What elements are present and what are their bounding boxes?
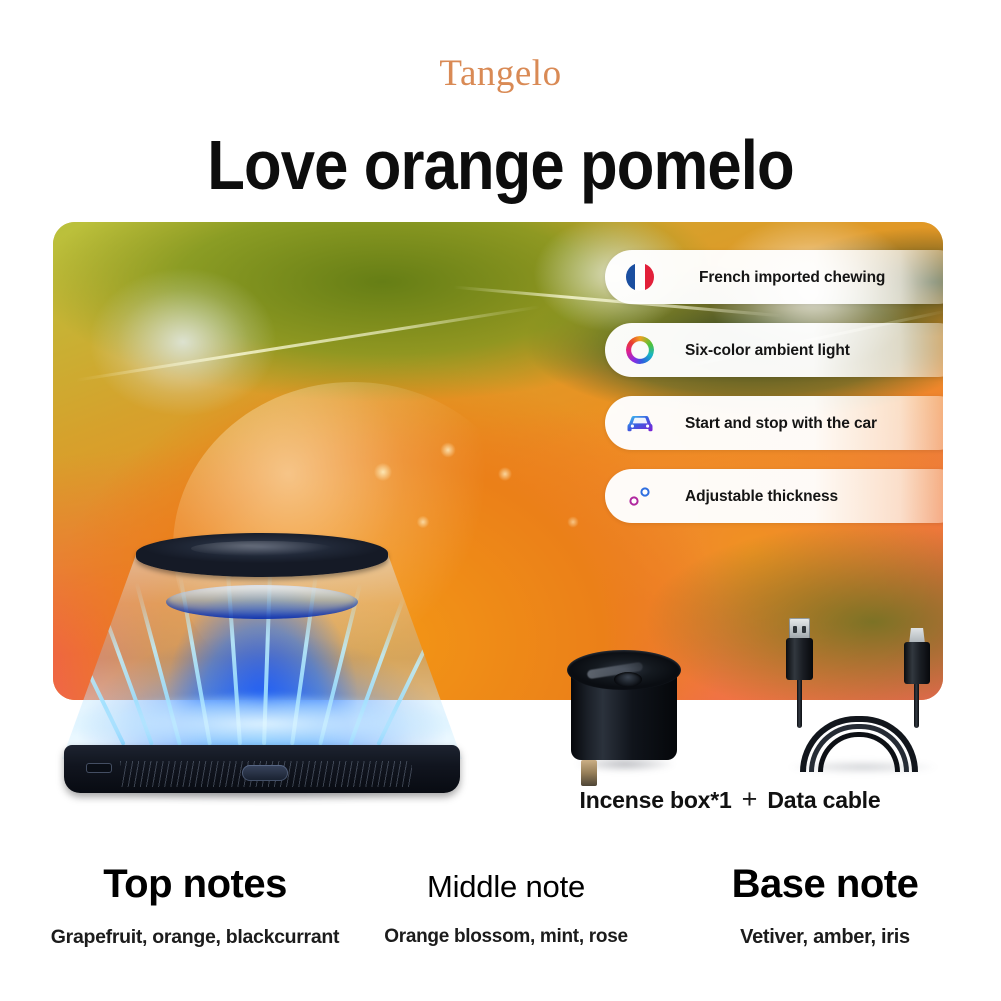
note-title: Base note <box>660 862 990 907</box>
diffuser-top-cap[interactable] <box>136 533 388 577</box>
rainbow-ring-icon <box>623 333 657 367</box>
note-title: Middle note <box>362 869 650 905</box>
accessories-caption: Incense box*1 + Data cable <box>520 786 940 814</box>
feature-label: Start and stop with the car <box>685 415 877 432</box>
data-cable-label: Data cable <box>767 787 880 814</box>
aroma-diffuser-product <box>62 533 462 805</box>
feature-pill-start-stop-car[interactable]: Start and stop with the car <box>605 396 943 450</box>
note-column-middle: Middle note Orange blossom, mint, rose <box>362 862 650 948</box>
diffuser-base <box>64 745 460 793</box>
incense-center-hole <box>614 672 642 687</box>
feature-pill-adjustable-thickness[interactable]: Adjustable thickness <box>605 469 943 523</box>
note-description: Orange blossom, mint, rose <box>362 926 650 948</box>
diffuser-transparent-dome <box>62 549 462 759</box>
feature-label: Adjustable thickness <box>685 488 838 505</box>
cable-cord <box>914 682 919 728</box>
brand-name: Tangelo <box>0 52 1001 96</box>
diffuser-charging-port <box>86 763 112 773</box>
feature-label: Six-color ambient light <box>685 342 850 359</box>
incense-top-face <box>567 650 681 690</box>
note-column-top: Top notes Grapefruit, orange, blackcurra… <box>20 862 370 949</box>
usb-data-cable <box>778 618 953 770</box>
product-poster: Tangelo Love orange pomelo French import… <box>0 0 1001 1001</box>
note-description: Grapefruit, orange, blackcurrant <box>20 926 370 949</box>
feature-list: French imported chewing Six-color ambien… <box>605 250 943 542</box>
feature-pill-ambient-light[interactable]: Six-color ambient light <box>605 323 943 377</box>
feature-pill-french-imported[interactable]: French imported chewing <box>605 250 943 304</box>
fragrance-notes: Top notes Grapefruit, orange, blackcurra… <box>0 862 1001 982</box>
cable-cord <box>797 678 802 728</box>
diffuser-inner-ring <box>166 585 358 619</box>
note-column-base: Base note Vetiver, amber, iris <box>660 862 990 949</box>
note-title: Top notes <box>20 862 370 907</box>
sliders-icon <box>623 479 657 513</box>
usb-a-connector-icon <box>786 618 813 680</box>
incense-box-label: Incense box*1 <box>580 787 732 814</box>
note-description: Vetiver, amber, iris <box>660 926 990 949</box>
incense-cartridge <box>563 640 685 770</box>
incense-foil-tab <box>581 760 597 786</box>
plus-separator: + <box>742 786 758 813</box>
page-title: Love orange pomelo <box>60 124 941 206</box>
micro-usb-connector-icon <box>904 628 930 684</box>
feature-label: French imported chewing <box>699 269 885 286</box>
french-flag-icon <box>623 260 657 294</box>
diffuser-power-button[interactable] <box>242 765 288 781</box>
car-icon <box>623 406 657 440</box>
